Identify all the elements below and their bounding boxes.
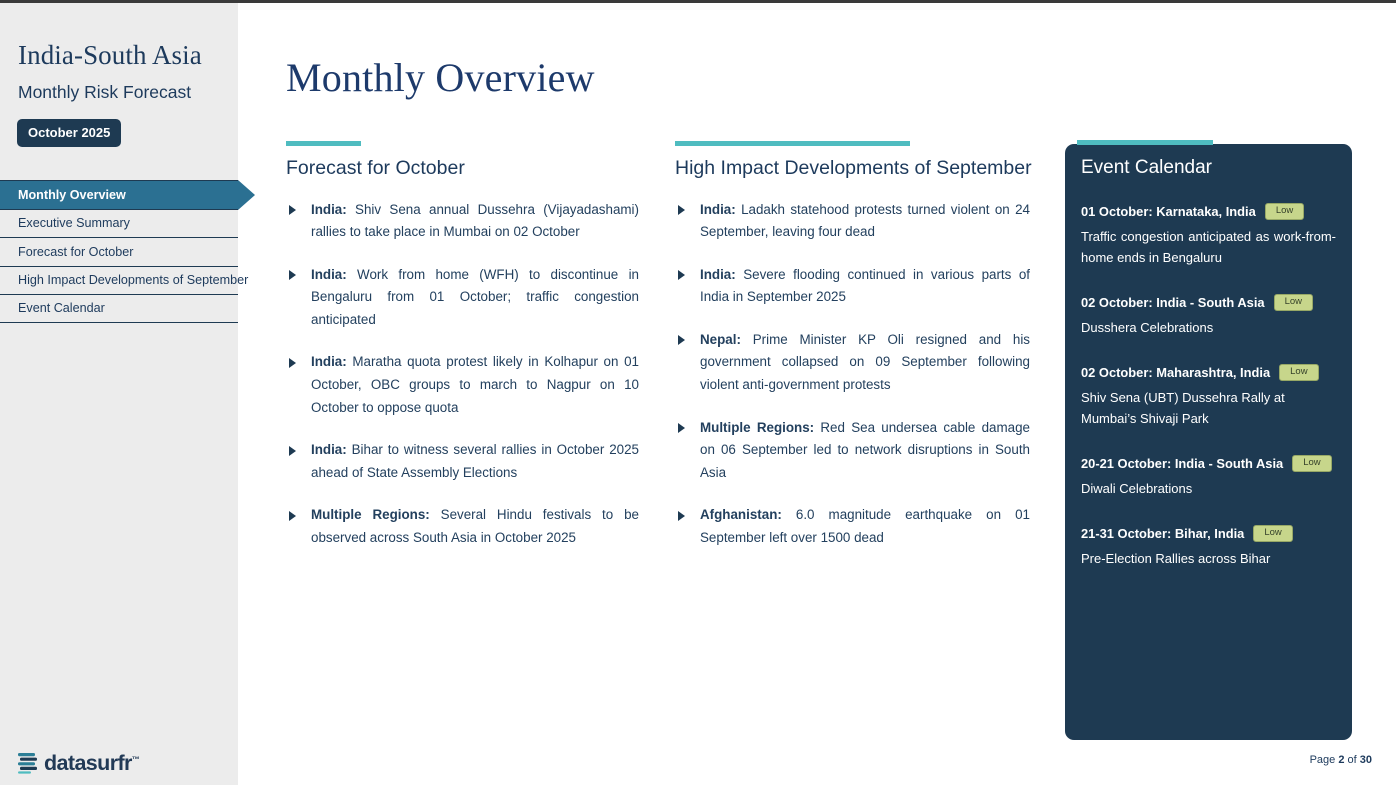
sidebar-item-monthly-overview[interactable]: Monthly Overview bbox=[0, 180, 238, 209]
list-item: India: Severe flooding continued in vari… bbox=[675, 264, 1030, 309]
sidebar-nav: Monthly Overview Executive Summary Forec… bbox=[0, 180, 238, 323]
high-impact-column: High Impact Developments of September In… bbox=[675, 141, 1030, 570]
bullet-text: Severe flooding continued in various par… bbox=[700, 267, 1030, 305]
column-heading: High Impact Developments of September bbox=[675, 157, 1030, 180]
sidebar-item-event-calendar[interactable]: Event Calendar bbox=[0, 294, 238, 323]
list-item: India: Bihar to witness several rallies … bbox=[286, 439, 639, 484]
calendar-event-header: 21-31 October: Bihar, India Low bbox=[1081, 525, 1336, 542]
calendar-event: 02 October: Maharashtra, India Low Shiv … bbox=[1081, 364, 1336, 429]
calendar-event-description: Dusshera Celebrations bbox=[1081, 317, 1336, 338]
triangle-bullet-icon bbox=[678, 335, 685, 345]
list-item: India: Shiv Sena annual Dussehra (Vijaya… bbox=[286, 199, 639, 244]
logo-trademark: ™ bbox=[132, 754, 139, 763]
calendar-event-title: 01 October: Karnataka, India bbox=[1081, 204, 1256, 219]
calendar-event-header: 02 October: Maharashtra, India Low bbox=[1081, 364, 1336, 381]
triangle-bullet-icon bbox=[678, 511, 685, 521]
calendar-event: 02 October: India - South Asia Low Dussh… bbox=[1081, 294, 1336, 338]
triangle-bullet-icon bbox=[678, 423, 685, 433]
accent-bar bbox=[286, 141, 361, 146]
bullet-label: India: bbox=[311, 354, 347, 369]
triangle-bullet-icon bbox=[289, 446, 296, 456]
bullet-label: Nepal: bbox=[700, 332, 741, 347]
triangle-bullet-icon bbox=[289, 205, 296, 215]
calendar-event-header: 20-21 October: India - South Asia Low bbox=[1081, 455, 1336, 472]
calendar-event-description: Traffic congestion anticipated as work-f… bbox=[1081, 226, 1336, 268]
brand-title: India-South Asia bbox=[18, 40, 202, 71]
sidebar-item-forecast-for-october[interactable]: Forecast for October bbox=[0, 237, 238, 266]
sidebar-item-label: Executive Summary bbox=[18, 216, 130, 230]
list-item: Nepal: Prime Minister KP Oli resigned an… bbox=[675, 329, 1030, 397]
calendar-event-header: 01 October: Karnataka, India Low bbox=[1081, 203, 1336, 220]
bullet-text: Bihar to witness several rallies in Octo… bbox=[311, 442, 639, 480]
calendar-event-title: 02 October: India - South Asia bbox=[1081, 295, 1265, 310]
status-badge: Low bbox=[1279, 364, 1318, 381]
list-item: Multiple Regions: Several Hindu festival… bbox=[286, 504, 639, 549]
sidebar-item-executive-summary[interactable]: Executive Summary bbox=[0, 209, 238, 238]
list-item: India: Work from home (WFH) to discontin… bbox=[286, 264, 639, 332]
bullet-text: Prime Minister KP Oli resigned and his g… bbox=[700, 332, 1030, 392]
status-badge: Low bbox=[1292, 455, 1331, 472]
calendar-event-header: 02 October: India - South Asia Low bbox=[1081, 294, 1336, 311]
sidebar-item-label: Event Calendar bbox=[18, 301, 105, 315]
page-title: Monthly Overview bbox=[286, 54, 595, 101]
brand-logo: datasurfr™ bbox=[18, 752, 139, 774]
event-calendar-panel: Event Calendar 01 October: Karnataka, In… bbox=[1065, 144, 1352, 740]
calendar-accent-bar bbox=[1077, 140, 1213, 145]
sidebar-item-label: High Impact Developments of September bbox=[18, 273, 248, 287]
logo-wordmark: datasurfr bbox=[44, 751, 132, 775]
calendar-event-description: Diwali Celebrations bbox=[1081, 478, 1336, 499]
bullet-label: India: bbox=[700, 202, 736, 217]
triangle-bullet-icon bbox=[289, 358, 296, 368]
page-number: Page 2 of 30 bbox=[1310, 754, 1372, 766]
sidebar: India-South Asia Monthly Risk Forecast O… bbox=[0, 3, 238, 785]
page-total: 30 bbox=[1360, 754, 1372, 766]
bullet-label: Multiple Regions: bbox=[311, 507, 430, 522]
slide-page: India-South Asia Monthly Risk Forecast O… bbox=[0, 0, 1396, 788]
list-item: Afghanistan: 6.0 magnitude earthquake on… bbox=[675, 504, 1030, 549]
accent-bar bbox=[675, 141, 910, 146]
bullet-text: Maratha quota protest likely in Kolhapur… bbox=[311, 354, 639, 414]
bullet-label: India: bbox=[311, 267, 347, 282]
page-label-middle: of bbox=[1344, 754, 1359, 766]
sidebar-item-label: Forecast for October bbox=[18, 245, 133, 259]
triangle-bullet-icon bbox=[678, 270, 685, 280]
calendar-event-description: Pre-Election Rallies across Bihar bbox=[1081, 548, 1336, 569]
sidebar-item-label: Monthly Overview bbox=[18, 188, 126, 202]
calendar-title: Event Calendar bbox=[1081, 157, 1336, 179]
page-label-prefix: Page bbox=[1310, 754, 1339, 766]
month-chip: October 2025 bbox=[17, 119, 121, 147]
bullet-label: India: bbox=[311, 202, 347, 217]
column-heading: Forecast for October bbox=[286, 157, 639, 180]
status-badge: Low bbox=[1265, 203, 1304, 220]
calendar-event: 01 October: Karnataka, India Low Traffic… bbox=[1081, 203, 1336, 268]
triangle-bullet-icon bbox=[289, 270, 296, 280]
datasurfr-logo-icon bbox=[18, 752, 39, 774]
triangle-bullet-icon bbox=[678, 205, 685, 215]
status-badge: Low bbox=[1253, 525, 1292, 542]
forecast-column: Forecast for October India: Shiv Sena an… bbox=[286, 141, 639, 570]
calendar-event: 21-31 October: Bihar, India Low Pre-Elec… bbox=[1081, 525, 1336, 569]
calendar-event-title: 21-31 October: Bihar, India bbox=[1081, 526, 1244, 541]
calendar-event-description: Shiv Sena (UBT) Dussehra Rally at Mumbai… bbox=[1081, 387, 1336, 429]
bullet-text: Ladakh statehood protests turned violent… bbox=[700, 202, 1030, 240]
forecast-bullet-list: India: Shiv Sena annual Dussehra (Vijaya… bbox=[286, 199, 639, 550]
sidebar-item-high-impact-developments[interactable]: High Impact Developments of September bbox=[0, 266, 238, 295]
list-item: India: Maratha quota protest likely in K… bbox=[286, 351, 639, 419]
triangle-bullet-icon bbox=[289, 511, 296, 521]
status-badge: Low bbox=[1274, 294, 1313, 311]
bullet-label: India: bbox=[700, 267, 736, 282]
bullet-label: Multiple Regions: bbox=[700, 420, 814, 435]
bullet-text: Work from home (WFH) to discontinue in B… bbox=[311, 267, 639, 327]
list-item: India: Ladakh statehood protests turned … bbox=[675, 199, 1030, 244]
bullet-text: Shiv Sena annual Dussehra (Vijayadashami… bbox=[311, 202, 639, 240]
bullet-label: India: bbox=[311, 442, 347, 457]
bullet-label: Afghanistan: bbox=[700, 507, 782, 522]
calendar-event-title: 20-21 October: India - South Asia bbox=[1081, 456, 1283, 471]
calendar-event: 20-21 October: India - South Asia Low Di… bbox=[1081, 455, 1336, 499]
high-impact-bullet-list: India: Ladakh statehood protests turned … bbox=[675, 199, 1030, 550]
logo-text: datasurfr™ bbox=[44, 753, 139, 775]
list-item: Multiple Regions: Red Sea undersea cable… bbox=[675, 417, 1030, 485]
brand-subtitle: Monthly Risk Forecast bbox=[18, 82, 191, 103]
calendar-event-title: 02 October: Maharashtra, India bbox=[1081, 365, 1270, 380]
